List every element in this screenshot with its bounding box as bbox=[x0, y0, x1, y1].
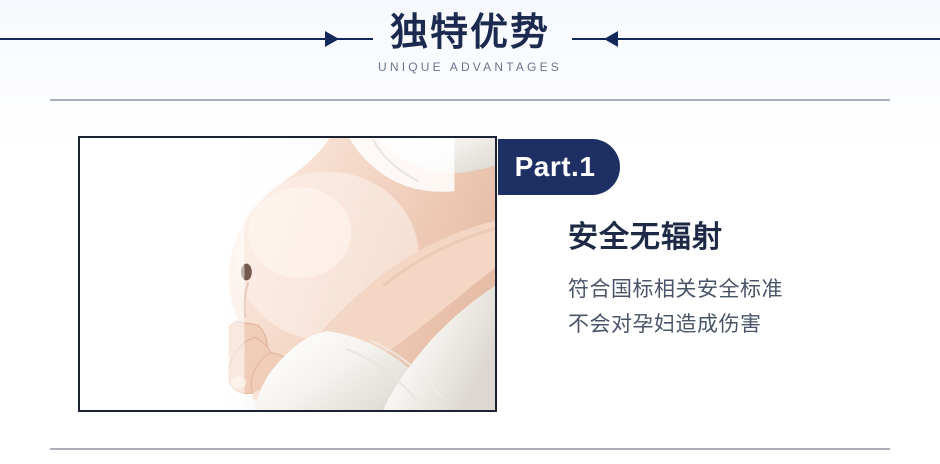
divider-top bbox=[50, 99, 890, 101]
feature-body-line: 不会对孕妇造成伤害 bbox=[568, 307, 908, 342]
feature-photo bbox=[78, 136, 497, 412]
advantages-section: 独特优势 UNIQUE ADVANTAGES bbox=[0, 0, 940, 464]
feature-copy: 安全无辐射 符合国标相关安全标准 不会对孕妇造成伤害 bbox=[568, 218, 908, 342]
section-title-block: 独特优势 UNIQUE ADVANTAGES bbox=[0, 10, 940, 75]
feature-body-line: 符合国标相关安全标准 bbox=[568, 272, 908, 307]
feature-body: 符合国标相关安全标准 不会对孕妇造成伤害 bbox=[568, 272, 908, 342]
page-title: 独特优势 bbox=[0, 10, 940, 56]
feature-heading: 安全无辐射 bbox=[568, 218, 908, 258]
part-badge: Part.1 bbox=[498, 139, 620, 195]
page-subtitle: UNIQUE ADVANTAGES bbox=[0, 59, 940, 75]
pregnant-woman-illustration bbox=[80, 138, 495, 410]
divider-bottom bbox=[50, 448, 890, 450]
